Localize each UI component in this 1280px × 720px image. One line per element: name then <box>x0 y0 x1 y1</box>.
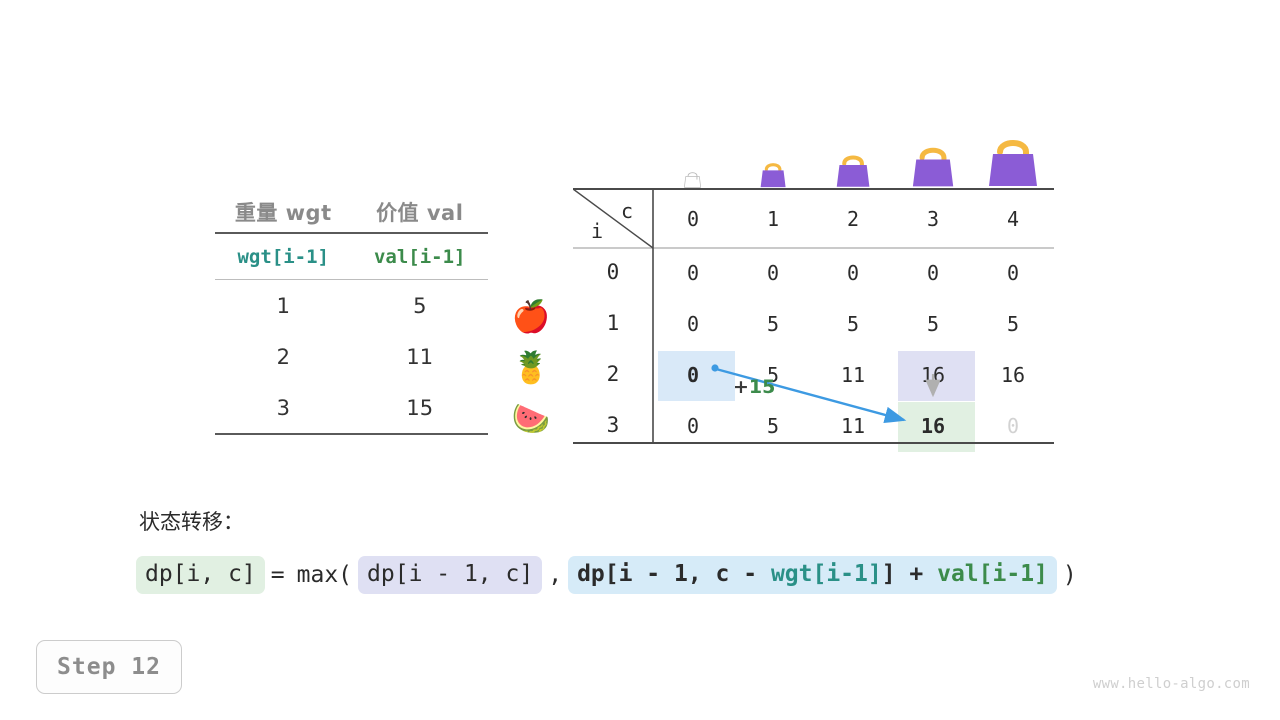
items-table-rule-bottom <box>215 433 488 435</box>
dp-col-header: 2 <box>813 206 893 232</box>
items-table-row: 1 5 <box>215 280 488 331</box>
formula-equals: = <box>265 562 291 588</box>
items-table: 重量 wgt 价值 val wgt[i-1] val[i-1] 1 5 2 11… <box>215 192 488 435</box>
item-3-weight: 3 <box>215 396 352 420</box>
formula-max-open: max( <box>291 562 358 588</box>
formula-close: ) <box>1057 562 1083 588</box>
dp-cell: 0 <box>653 311 733 337</box>
gain-label: +15 <box>733 376 775 398</box>
items-table-subheader-row: wgt[i-1] val[i-1] <box>215 234 488 279</box>
items-subheader-wgt: wgt[i-1] <box>215 246 352 268</box>
dp-col-header: 0 <box>653 206 733 232</box>
formula-take-prefix: dp[i - 1, c - <box>577 561 771 587</box>
items-subheader-val: val[i-1] <box>352 246 489 268</box>
gain-sign: + <box>733 376 749 398</box>
dp-row-header: 2 <box>573 362 653 386</box>
gain-value: 15 <box>749 376 775 398</box>
watermelon-emoji-icon: 🍉 <box>509 397 553 441</box>
dp-cell: 0 <box>653 413 733 439</box>
item-3-value: 15 <box>352 396 489 420</box>
bag-icon <box>813 110 893 188</box>
dp-cell: 5 <box>973 311 1053 337</box>
item-1-weight: 1 <box>215 294 352 318</box>
dp-col-header: 4 <box>973 206 1053 232</box>
dp-cell: 16 <box>893 413 973 439</box>
items-table-row: 3 15 <box>215 382 488 433</box>
dp-cell: 0 <box>973 260 1053 286</box>
dp-cell: 16 <box>893 362 973 388</box>
dp-row-header: 1 <box>573 311 653 335</box>
dp-cell: 0 <box>893 260 973 286</box>
formula-comma: , <box>542 562 568 588</box>
bag-icon <box>653 110 733 188</box>
dp-cell: 0 <box>653 260 733 286</box>
item-2-value: 11 <box>352 345 489 369</box>
bag-capacity-row <box>573 110 1054 188</box>
items-table-row: 2 11 <box>215 331 488 382</box>
dp-cell: 5 <box>813 311 893 337</box>
dp-corner-col-label: c <box>621 199 633 223</box>
dp-col-header: 3 <box>893 206 973 232</box>
dp-cell: 11 <box>813 362 893 388</box>
formula-take-mid: ] + <box>882 561 937 587</box>
dp-cell: 0 <box>813 260 893 286</box>
dp-corner-row-label: i <box>591 219 603 243</box>
bag-icon <box>733 110 813 188</box>
formula-target: dp[i, c] <box>136 556 265 594</box>
dp-cell: 0 <box>973 413 1053 439</box>
dp-cell: 0 <box>653 362 733 388</box>
formula-option-skip: dp[i - 1, c] <box>358 556 542 594</box>
dp-row-header: 3 <box>573 413 653 437</box>
item-1-value: 5 <box>352 294 489 318</box>
bag-icon <box>893 110 973 188</box>
formula-take-val: val[i-1] <box>937 561 1048 587</box>
watermark: www.hello-algo.com <box>1093 676 1250 692</box>
transition-formula: dp[i, c] = max( dp[i - 1, c] , dp[i - 1,… <box>136 556 1083 594</box>
dp-table: c i 0123401230000005555051116160511160 +… <box>573 188 1054 444</box>
dp-cell: 5 <box>733 413 813 439</box>
dp-cell: 11 <box>813 413 893 439</box>
slide-canvas: 重量 wgt 价值 val wgt[i-1] val[i-1] 1 5 2 11… <box>0 0 1280 720</box>
bag-icon <box>973 110 1053 188</box>
step-badge: Step 12 <box>36 640 182 694</box>
formula-option-take: dp[i - 1, c - wgt[i-1]] + val[i-1] <box>568 556 1057 594</box>
dp-cell: 5 <box>733 311 813 337</box>
items-table-header-row: 重量 wgt 价值 val <box>215 192 488 232</box>
items-header-value: 价值 val <box>352 197 489 227</box>
dp-cell: 16 <box>973 362 1053 388</box>
dp-col-header: 1 <box>733 206 813 232</box>
pineapple-emoji-icon: 🍍 <box>509 346 553 390</box>
items-header-weight: 重量 wgt <box>215 197 352 227</box>
dp-cell: 5 <box>893 311 973 337</box>
formula-take-wgt: wgt[i-1] <box>771 561 882 587</box>
apple-emoji-icon: 🍎 <box>509 295 553 339</box>
transition-label: 状态转移： <box>139 506 244 536</box>
dp-cell: 0 <box>733 260 813 286</box>
dp-row-header: 0 <box>573 260 653 284</box>
item-2-weight: 2 <box>215 345 352 369</box>
